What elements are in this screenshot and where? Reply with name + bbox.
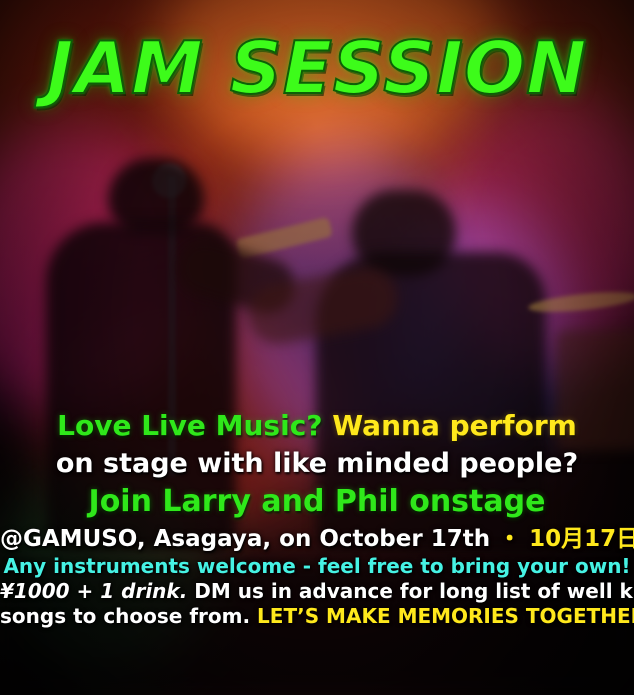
tagline-line-3: Join Larry and Phil onstage xyxy=(0,485,634,520)
event-venue-date: @GAMUSO, Asagaya, on October 17th xyxy=(0,526,490,552)
tagline-line-1-part-2: Wanna perform xyxy=(332,409,577,442)
poster-title: JAM SESSION xyxy=(0,26,634,110)
poster-body-text: Love Live Music? Wanna perform on stage … xyxy=(0,410,634,628)
event-details-line: @GAMUSO, Asagaya, on October 17th ・ 10月1… xyxy=(0,526,634,553)
price-note-rest: DM us in advance for long list of well k… xyxy=(187,579,634,603)
price-note: ¥1000 + 1 drink. DM us in advance for lo… xyxy=(0,580,634,603)
tagline-line-1: Love Live Music? Wanna perform xyxy=(0,410,634,442)
event-date-japanese: ・ 10月17日 xyxy=(490,526,634,552)
tagline-line-1-part-1: Love Live Music? xyxy=(57,409,332,442)
tagline-line-2: on stage with like minded people? xyxy=(0,448,634,479)
price-amount: ¥1000 + 1 drink. xyxy=(0,579,187,603)
instruments-note: Any instruments welcome - feel free to b… xyxy=(0,555,634,578)
closing-call-to-action: LET’S MAKE MEMORIES TOGETHER! xyxy=(257,604,634,628)
poster-text-layer: JAM SESSION Love Live Music? Wanna perfo… xyxy=(0,0,634,695)
closing-line-part-1: songs to choose from. xyxy=(0,604,257,628)
jam-session-poster: JAM SESSION Love Live Music? Wanna perfo… xyxy=(0,0,634,695)
closing-line: songs to choose from. LET’S MAKE MEMORIE… xyxy=(0,605,634,628)
